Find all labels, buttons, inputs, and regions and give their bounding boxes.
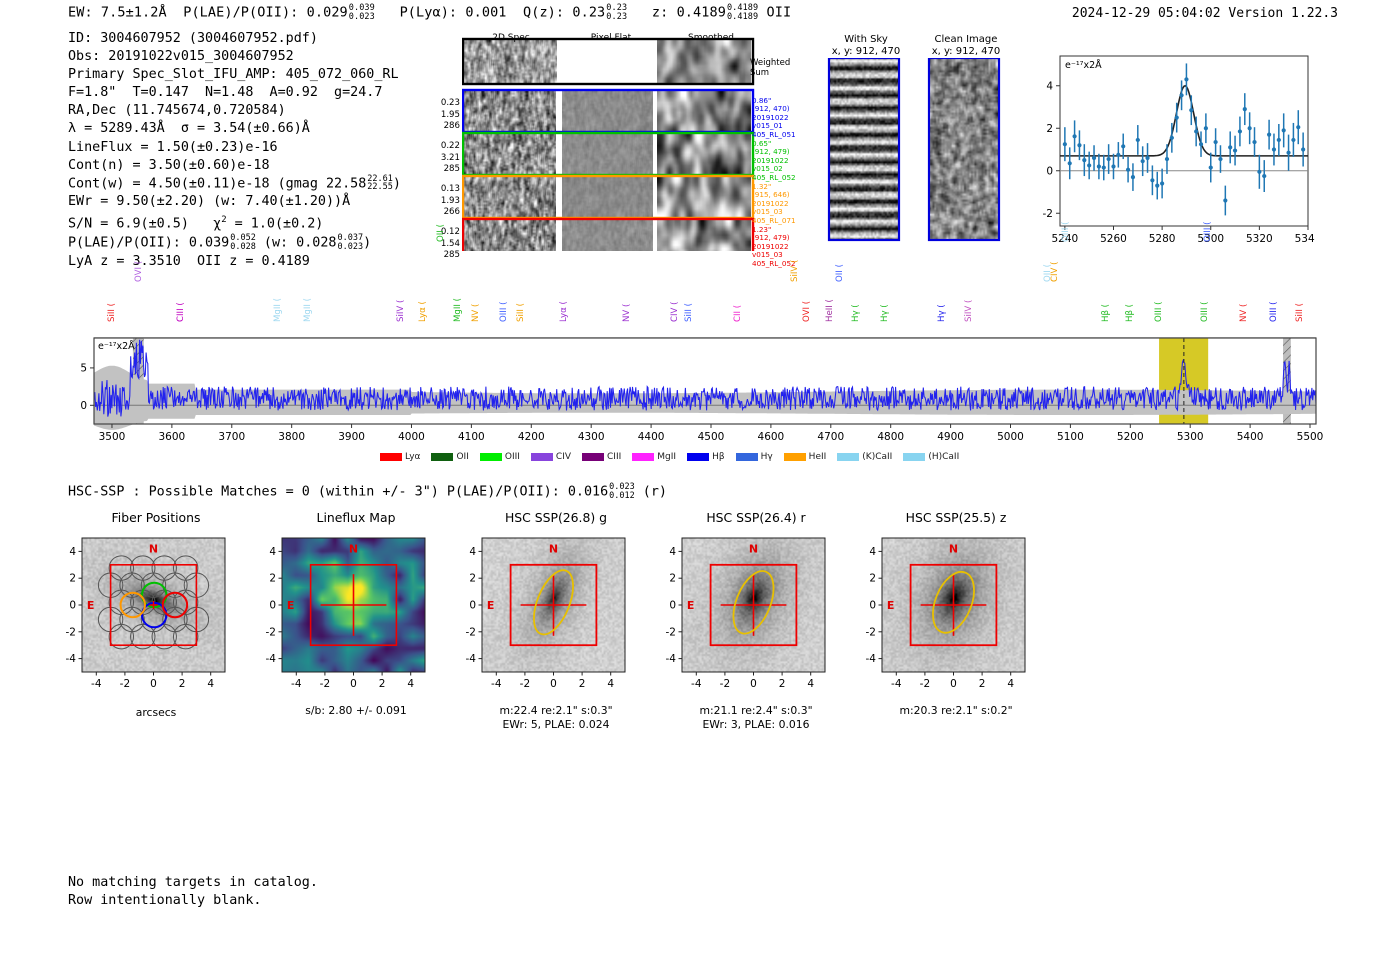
svg-text:-2: -2 <box>920 678 930 690</box>
info-line-cont-w: Cont(w) = 4.50(±0.11)e-18 (gmag 22.5822.… <box>68 175 401 194</box>
svg-text:5320: 5320 <box>1246 233 1273 245</box>
fiber-values-3: 0.121.54285 <box>432 227 460 262</box>
legend-item: (H)CaII <box>903 452 959 462</box>
svg-text:4700: 4700 <box>817 431 844 443</box>
panel-title-2: HSC SSP(26.8) g <box>456 510 656 525</box>
svg-text:e⁻¹⁷x2Å: e⁻¹⁷x2Å <box>98 340 135 352</box>
col-title-smoothed: Smoothed <box>662 33 760 43</box>
fiber-meta-3: 1.23"(912, 479)20191022v015_03405_RL_052 <box>752 226 796 268</box>
legend-swatch <box>784 453 806 461</box>
timestamp: 2024-12-29 05:04:02 <box>1072 6 1221 21</box>
legend-label: HeII <box>809 452 827 462</box>
hsc-header-band: (r) <box>635 485 667 500</box>
svg-text:4: 4 <box>869 546 876 558</box>
footer-line-1: No matching targets in catalog. <box>68 874 318 892</box>
svg-text:2: 2 <box>869 573 876 585</box>
svg-text:5500: 5500 <box>1297 431 1324 443</box>
plae2-w-lower: 0.023 <box>337 243 363 252</box>
svg-text:-2: -2 <box>720 678 730 690</box>
legend-label: OIII <box>505 452 520 462</box>
legend-label: CIII <box>607 452 621 462</box>
plae-value: 0.029 <box>307 5 348 21</box>
svg-text:2: 2 <box>579 678 586 690</box>
svg-text:0: 0 <box>750 678 757 690</box>
legend-label: (H)CaII <box>928 452 959 462</box>
fiber-value: 285 <box>432 250 460 262</box>
svg-text:-2: -2 <box>520 678 530 690</box>
svg-text:4200: 4200 <box>518 431 545 443</box>
svg-text:0: 0 <box>80 400 87 412</box>
legend-swatch <box>903 453 925 461</box>
fiber-value: 0.23 <box>432 98 460 110</box>
svg-text:4: 4 <box>607 678 614 690</box>
svg-text:4800: 4800 <box>877 431 904 443</box>
svg-text:5240: 5240 <box>1051 233 1078 245</box>
fiber-values-2: 0.131.93266 <box>432 184 460 219</box>
svg-text:E: E <box>887 599 895 612</box>
info-line-cont-n: Cont(n) = 3.50(±0.60)e-18 <box>68 157 401 175</box>
spectrum-legend: LyαOIIOIIICIVCIIIMgIIHβHγHeII(K)CaII(H)C… <box>380 452 959 462</box>
legend-swatch <box>632 453 654 461</box>
footer-note: No matching targets in catalog. Row inte… <box>68 874 318 910</box>
legend-label: Hγ <box>761 452 773 462</box>
legend-item: CIII <box>582 452 621 462</box>
panel-image-1: -4-4-2-2002244NE <box>256 528 456 718</box>
svg-text:5100: 5100 <box>1057 431 1084 443</box>
panel-image-2: -4-4-2-2002244NE <box>456 528 656 718</box>
svg-text:-4: -4 <box>266 653 277 665</box>
svg-text:N: N <box>149 543 158 556</box>
svg-text:-4: -4 <box>866 653 877 665</box>
svg-text:2: 2 <box>69 573 76 585</box>
panel-image-0: -4-4-2-2002244NE <box>56 528 256 718</box>
info-line-primary: Primary Spec_Slot_IFU_AMP: 405_072_060_R… <box>68 66 401 84</box>
legend-label: Hβ <box>712 452 725 462</box>
svg-text:2: 2 <box>1046 123 1053 135</box>
panel-caption2-2: EWr: 5, PLAE: 0.024 <box>452 718 660 732</box>
panel-image-3: -4-4-2-2002244NE <box>656 528 856 718</box>
gmag-lower: 22.55 <box>367 183 393 192</box>
legend-label: CIV <box>556 452 571 462</box>
panel-title-3: HSC SSP(26.4) r <box>656 510 856 525</box>
svg-text:3800: 3800 <box>278 431 305 443</box>
svg-text:0: 0 <box>950 678 957 690</box>
svg-text:5260: 5260 <box>1100 233 1127 245</box>
fiber-value: 1.93 <box>432 196 460 208</box>
col-title-pixelflat: Pixel Flat <box>562 33 660 43</box>
svg-text:4: 4 <box>669 546 676 558</box>
legend-swatch <box>687 453 709 461</box>
legend-item: CIV <box>531 452 571 462</box>
svg-text:0: 0 <box>350 678 357 690</box>
svg-text:-4: -4 <box>691 678 702 690</box>
legend-item: OIII <box>480 452 520 462</box>
svg-text:5300: 5300 <box>1177 431 1204 443</box>
qz-lower: 0.23 <box>606 13 627 22</box>
info-line-params: F=1.8" T=0.147 N=1.48 A=0.92 g=24.7 <box>68 84 401 102</box>
fiber-value: 1.95 <box>432 110 460 122</box>
svg-text:-2: -2 <box>320 678 330 690</box>
panel-caption2-3: EWr: 3, PLAE: 0.016 <box>652 718 860 732</box>
panel-title-1: Lineflux Map <box>256 510 456 525</box>
fiber-meta-line: 405_RL_051 <box>752 131 796 139</box>
svg-text:4: 4 <box>269 546 276 558</box>
info-line-lineflux: LineFlux = 1.50(±0.23)e-16 <box>68 139 401 157</box>
svg-text:0: 0 <box>550 678 557 690</box>
panel-caption1-2: m:22.4 re:2.1" s:0.3" <box>452 704 660 718</box>
plae2-lower: 0.028 <box>230 243 256 252</box>
legend-swatch <box>431 453 453 461</box>
panel-caption1-4: m:20.3 re:2.1" s:0.2" <box>852 704 1060 718</box>
z-value: 0.4189 <box>677 5 726 21</box>
svg-text:5280: 5280 <box>1149 233 1176 245</box>
legend-label: MgII <box>657 452 676 462</box>
svg-text:5200: 5200 <box>1117 431 1144 443</box>
svg-text:4600: 4600 <box>758 431 785 443</box>
svg-text:0: 0 <box>150 678 157 690</box>
plya-value: 0.001 <box>465 5 506 21</box>
chi-symbol: χ <box>213 217 221 232</box>
fiber-value: 0.22 <box>432 141 460 153</box>
fiber-meta-2: 1.32"(915, 646)20191022v015_03405_RL_071 <box>752 183 796 225</box>
hsc-plae-lower: 0.012 <box>609 492 635 501</box>
svg-text:4400: 4400 <box>638 431 665 443</box>
svg-text:2: 2 <box>779 678 786 690</box>
sn-text: S/N = 6.9(±0.5) <box>68 217 213 232</box>
svg-text:-2: -2 <box>120 678 130 690</box>
footer-line-2: Row intentionally blank. <box>68 892 318 910</box>
legend-item: Hβ <box>687 452 725 462</box>
svg-text:-2: -2 <box>666 626 676 638</box>
fiber-value: 266 <box>432 207 460 219</box>
legend-label: OII <box>456 452 468 462</box>
svg-text:N: N <box>349 543 358 556</box>
svg-text:2: 2 <box>379 678 386 690</box>
clean-image-coords: x, y: 912, 470 <box>920 46 1012 59</box>
svg-text:N: N <box>749 543 758 556</box>
fiber-value: 1.54 <box>432 239 460 251</box>
legend-swatch <box>380 453 402 461</box>
svg-text:4: 4 <box>207 678 214 690</box>
weighted-sum-line2: Sum <box>750 68 790 78</box>
fiber-meta-line: 405_RL_052 <box>752 174 796 182</box>
svg-text:-2: -2 <box>66 626 76 638</box>
svg-text:4100: 4100 <box>458 431 485 443</box>
plae-label: P(LAE)/P(OII): <box>183 5 298 21</box>
svg-text:-4: -4 <box>66 653 77 665</box>
svg-text:4: 4 <box>807 678 814 690</box>
svg-text:E: E <box>487 599 495 612</box>
fiber-meta-0: 0.86"(912, 470)20191022v015_01405_RL_051 <box>752 97 796 139</box>
fiber-value: 285 <box>432 164 460 176</box>
hsc-header-text: HSC-SSP : Possible Matches = 0 (within +… <box>68 485 608 500</box>
svg-text:4900: 4900 <box>937 431 964 443</box>
svg-text:5340: 5340 <box>1295 233 1315 245</box>
svg-text:0: 0 <box>1046 165 1053 177</box>
plae-lower: 0.023 <box>349 13 375 22</box>
svg-text:0: 0 <box>69 600 76 612</box>
weighted-sum-label: Weighted Sum <box>750 58 790 78</box>
svg-text:0: 0 <box>669 600 676 612</box>
svg-text:e⁻¹⁷x2Å: e⁻¹⁷x2Å <box>1065 59 1102 71</box>
svg-text:2: 2 <box>179 678 186 690</box>
svg-text:-2: -2 <box>866 626 876 638</box>
plae2-close: ) <box>363 236 371 251</box>
ew-label: EW: <box>68 5 93 21</box>
svg-text:-4: -4 <box>466 653 477 665</box>
legend-item: OII <box>431 452 468 462</box>
info-line-sn: S/N = 6.9(±0.5) χ2 = 1.0(±0.2) <box>68 211 401 234</box>
svg-text:4: 4 <box>469 546 476 558</box>
svg-text:5400: 5400 <box>1237 431 1264 443</box>
fiber-values-0: 0.231.95286 <box>432 98 460 133</box>
legend-item: Lyα <box>380 452 420 462</box>
version-stamp: 2024-12-29 05:04:02 Version 1.22.3 <box>1072 6 1338 21</box>
fiber-meta-1: 0.65"(912, 479)20191022v015_02405_RL_052 <box>752 140 796 182</box>
svg-text:5000: 5000 <box>997 431 1024 443</box>
hsc-ssp-header: HSC-SSP : Possible Matches = 0 (within +… <box>68 483 667 500</box>
spec2d-montage: 0.231.952860.86"(912, 470)20191022v015_0… <box>462 36 762 255</box>
svg-text:2: 2 <box>269 573 276 585</box>
summary-header: EW: 7.5±1.2Å P(LAE)/P(OII): 0.0290.0390.… <box>68 4 791 21</box>
qz-label: Q(z): <box>523 5 564 21</box>
svg-text:2: 2 <box>469 573 476 585</box>
panel-xlabel-0: arcsecs <box>56 706 256 720</box>
spec2d-column-titles: 2D Spec Pixel Flat Smoothed <box>462 33 762 47</box>
svg-text:N: N <box>949 543 958 556</box>
svg-text:3900: 3900 <box>338 431 365 443</box>
fiber-value: 286 <box>432 121 460 133</box>
svg-text:-2: -2 <box>466 626 476 638</box>
legend-item: HeII <box>784 452 827 462</box>
svg-text:4: 4 <box>69 546 76 558</box>
svg-text:E: E <box>687 599 695 612</box>
legend-swatch <box>837 453 859 461</box>
svg-text:4500: 4500 <box>698 431 725 443</box>
svg-text:3500: 3500 <box>99 431 126 443</box>
ew-value: 7.5±1.2Å <box>101 5 167 21</box>
panel-title-4: HSC SSP(25.5) z <box>856 510 1056 525</box>
svg-text:5300: 5300 <box>1197 233 1224 245</box>
cutout-images-svg <box>820 58 1010 248</box>
svg-text:0: 0 <box>869 600 876 612</box>
panel-title-0: Fiber Positions <box>56 510 256 525</box>
svg-text:-4: -4 <box>491 678 502 690</box>
legend-item: Hγ <box>736 452 773 462</box>
svg-text:2: 2 <box>669 573 676 585</box>
legend-swatch <box>531 453 553 461</box>
fiber-meta-line: 405_RL_052 <box>752 260 796 268</box>
fiber-values-1: 0.223.21285 <box>432 141 460 176</box>
svg-text:-2: -2 <box>1043 208 1053 220</box>
fiber-value: 0.12 <box>432 227 460 239</box>
plae2-text: P(LAE)/P(OII): 0.039 <box>68 236 229 251</box>
svg-text:E: E <box>87 599 95 612</box>
svg-text:4: 4 <box>1007 678 1014 690</box>
legend-swatch <box>736 453 758 461</box>
legend-item: (K)CaII <box>837 452 892 462</box>
legend-label: Lyα <box>405 452 420 462</box>
svg-text:4: 4 <box>407 678 414 690</box>
legend-swatch <box>582 453 604 461</box>
fiber-meta-line: 405_RL_071 <box>752 217 796 225</box>
info-line-redshift: LyA z = 3.3510 OII z = 0.4189 <box>68 253 401 271</box>
svg-text:0: 0 <box>469 600 476 612</box>
qz-value: 0.23 <box>572 5 605 21</box>
svg-text:-4: -4 <box>891 678 902 690</box>
info-line-lambda: λ = 5289.43Å σ = 3.54(±0.66)Å <box>68 120 401 138</box>
panel-image-4: -4-4-2-2002244NE <box>856 528 1056 718</box>
with-sky-title: With Sky <box>820 34 912 47</box>
bottom-image-panels: Fiber Positions-4-4-2-2002244NEarcsecsLi… <box>56 510 1056 725</box>
info-line-ewr: EWr = 9.50(±2.20) (w: 7.40(±1.20))Å <box>68 193 401 211</box>
version-number: Version 1.22.3 <box>1228 6 1338 21</box>
z-lower: 0.4189 <box>727 13 758 22</box>
info-line-plae: P(LAE)/P(OII): 0.0390.0520.028 (w: 0.028… <box>68 234 401 253</box>
weighted-sum-line1: Weighted <box>750 58 790 68</box>
fiber-value: 3.21 <box>432 153 460 165</box>
fiber-value: 0.13 <box>432 184 460 196</box>
svg-text:E: E <box>287 599 295 612</box>
object-info-block: ID: 3004607952 (3004607952.pdf) Obs: 201… <box>68 30 401 271</box>
info-line-id: ID: 3004607952 (3004607952.pdf) <box>68 30 401 48</box>
clean-image-title: Clean Image <box>920 34 1012 47</box>
full-spectrum-plot: e⁻¹⁷x2Å350036003700380039004000410042004… <box>58 272 1328 447</box>
panel-caption1-1: s/b: 2.80 +/- 0.091 <box>252 704 460 718</box>
svg-text:N: N <box>549 543 558 556</box>
svg-text:4000: 4000 <box>398 431 425 443</box>
legend-label: (K)CaII <box>862 452 892 462</box>
cont-w-close: ) <box>393 176 401 191</box>
svg-text:5: 5 <box>80 362 87 374</box>
emission-line-zoom-plot: 524052605280530053205340-2024e⁻¹⁷x2Å <box>1030 46 1315 256</box>
plya-label: P(Lyα): <box>400 5 458 21</box>
panel-caption1-3: m:21.1 re:2.4" s:0.3" <box>652 704 860 718</box>
col-title-2dspec: 2D Spec <box>462 33 560 43</box>
svg-text:4: 4 <box>1046 80 1053 92</box>
info-line-radec: RA,Dec (11.745674,0.720584) <box>68 102 401 120</box>
svg-text:3600: 3600 <box>159 431 186 443</box>
z-label: z: <box>652 5 668 21</box>
svg-text:2: 2 <box>979 678 986 690</box>
chi-value: = 1.0(±0.2) <box>227 217 324 232</box>
svg-text:-4: -4 <box>91 678 102 690</box>
info-line-obs: Obs: 20191022v015_3004607952 <box>68 48 401 66</box>
svg-text:-2: -2 <box>266 626 276 638</box>
z-species: OII <box>766 5 791 21</box>
legend-item: MgII <box>632 452 676 462</box>
svg-text:0: 0 <box>269 600 276 612</box>
cont-w-text: Cont(w) = 4.50(±0.11)e-18 (gmag 22.58 <box>68 176 366 191</box>
with-sky-coords: x, y: 912, 470 <box>820 46 912 59</box>
svg-text:-4: -4 <box>291 678 302 690</box>
plae2-mid: (w: 0.028 <box>256 236 337 251</box>
svg-text:-4: -4 <box>666 653 677 665</box>
svg-text:3700: 3700 <box>218 431 245 443</box>
legend-swatch <box>480 453 502 461</box>
svg-text:4300: 4300 <box>578 431 605 443</box>
